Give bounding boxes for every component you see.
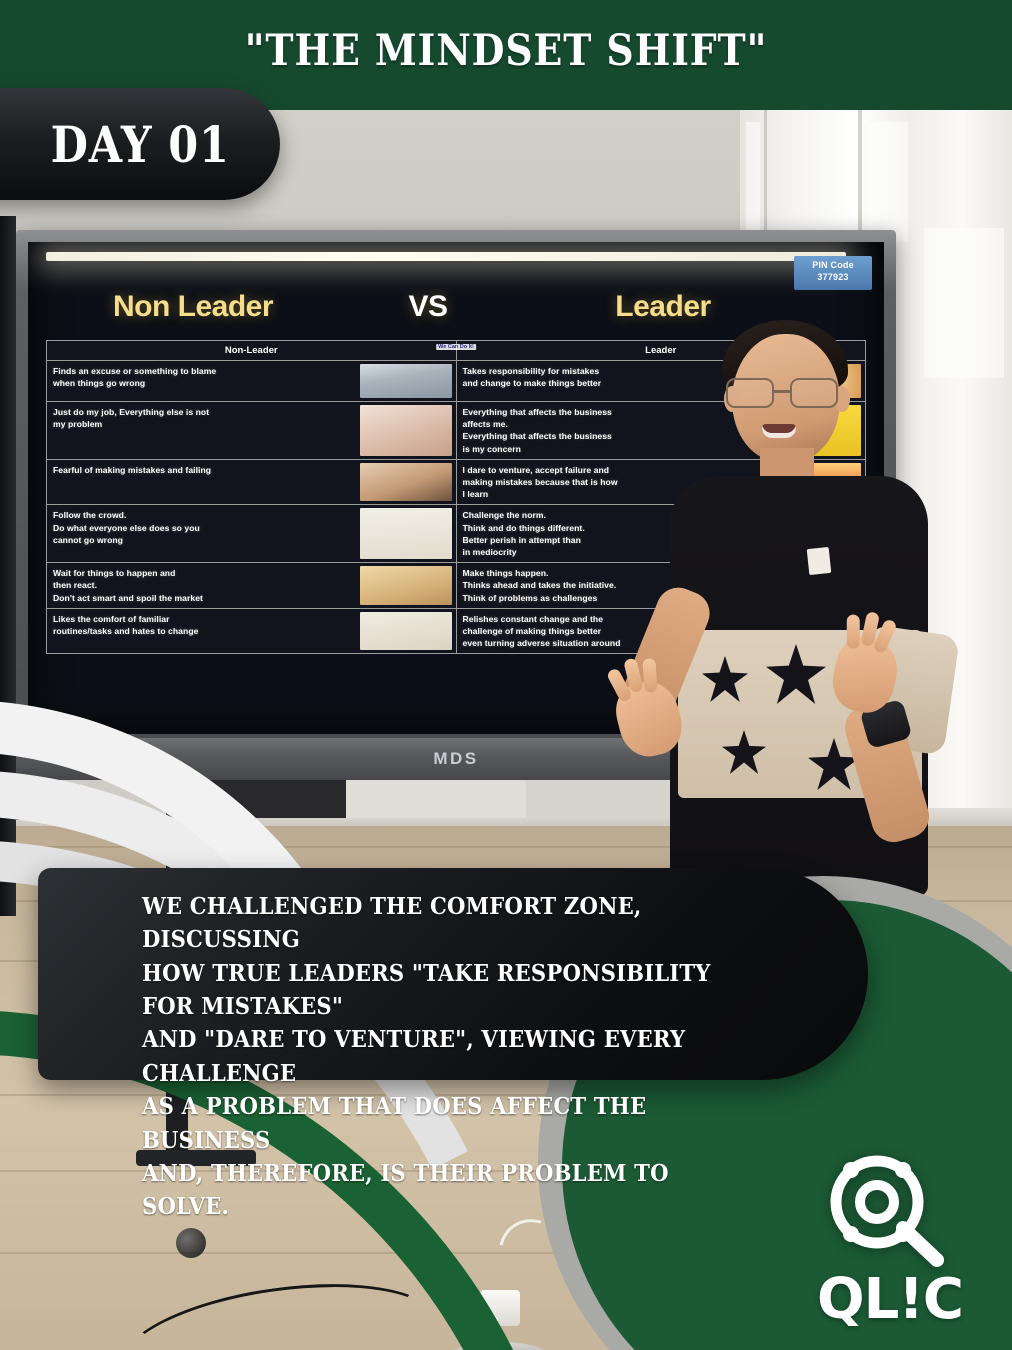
cell-thumbnail [360,463,452,502]
brand-logo: QL!C [790,1140,990,1328]
caption-text: WE CHALLENGED THE COMFORT ZONE, DISCUSSI… [142,890,759,1224]
cell-non-leader: Finds an excuse or something to blame wh… [47,361,457,401]
pin-code-value: 377923 [794,271,872,283]
slide-heading-non-leader: Non Leader [28,290,358,324]
thumbnail-caption: We Can Do It! [436,344,476,350]
cell-thumbnail [360,364,452,398]
cell-text: Wait for things to happen and then react… [47,563,360,608]
cell-text: Fearful of making mistakes and failing [47,460,360,505]
cell-thumbnail [360,566,452,605]
presenter-pocket-square [807,547,832,575]
cell-text: Finds an excuse or something to blame wh… [47,361,360,401]
cell-thumbnail [360,612,452,651]
cell-non-leader: Likes the comfort of familiar routines/t… [47,609,457,654]
window-pane [868,122,908,242]
cell-non-leader: Fearful of making mistakes and failing [47,460,457,505]
day-badge-label: DAY 01 [51,115,230,174]
magnifier-crosshair-icon [815,1150,965,1270]
cell-text: Just do my job, Everything else is not m… [47,402,360,459]
poster-canvas: PIN Code 377923 Non Leader VS Leader Non… [0,0,1012,1350]
cell-non-leader: Follow the crowd. Do what everyone else … [47,505,457,562]
pin-code-label: PIN Code [794,259,872,271]
cell-non-leader: Wait for things to happen and then react… [47,563,457,608]
display-brand-label: MDS [433,749,478,769]
cell-thumbnail [360,405,452,456]
page-title: "THE MINDSET SHIFT" [61,26,952,76]
cell-text: Likes the comfort of familiar routines/t… [47,609,360,654]
screen-lightbar-reflection [46,252,846,261]
logo-wordmark: QL!C [817,1272,963,1328]
presenter-mouth [762,424,796,438]
column-header-non-leader: Non-Leader [47,341,457,360]
cell-non-leader: Just do my job, Everything else is not m… [47,402,457,459]
caption-bubble: WE CHALLENGED THE COMFORT ZONE, DISCUSSI… [38,868,868,1080]
presenter-glasses [726,378,848,408]
cell-text: Follow the crowd. Do what everyone else … [47,505,360,562]
pin-code-badge: PIN Code 377923 [794,256,872,290]
slide-heading-vs: VS [358,290,498,324]
day-badge: DAY 01 [0,88,280,200]
cell-thumbnail [360,508,452,559]
